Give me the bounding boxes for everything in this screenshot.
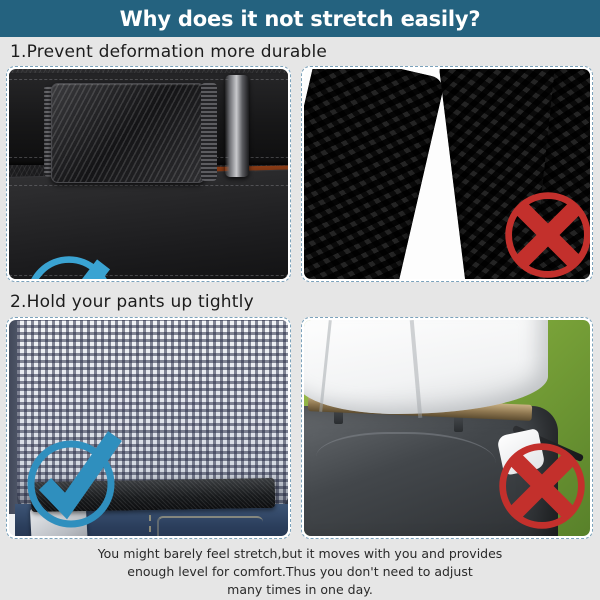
belt-stitch-line xyxy=(9,275,288,276)
panel-top-right xyxy=(301,66,593,282)
header-bar: Why does it not stretch easily? xyxy=(0,0,600,37)
panel-top-right-image xyxy=(304,69,590,279)
belt-buckle-plate xyxy=(51,83,205,183)
caption-line-2: enough level for comfort.Thus you don't … xyxy=(0,563,600,581)
panel-bottom-right xyxy=(301,317,593,539)
caption-line-3: many times in one day. xyxy=(0,581,600,599)
caption-line-1: You might barely feel stretch,but it mov… xyxy=(0,545,600,563)
panel-bottom-right-image xyxy=(304,320,590,536)
panel-bottom-left xyxy=(6,317,291,539)
panel-top-left xyxy=(6,66,291,282)
panel-bottom-left-image xyxy=(9,320,288,536)
white-shirt xyxy=(304,320,548,414)
belt-stitch-line xyxy=(9,185,288,186)
footer-caption: You might barely feel stretch,but it mov… xyxy=(0,545,600,599)
trouser-pocket xyxy=(316,432,496,494)
infographic-root: Why does it not stretch easily? 1.Preven… xyxy=(0,0,600,600)
section-heading-2: 2.Hold your pants up tightly xyxy=(10,292,254,312)
buckle-knurled-edge xyxy=(201,83,217,181)
page-title: Why does it not stretch easily? xyxy=(120,7,481,31)
jeans-back-pocket xyxy=(157,516,263,536)
section-heading-1: 1.Prevent deformation more durable xyxy=(10,42,327,62)
worn-black-belt xyxy=(31,478,275,512)
panel-top-left-image xyxy=(9,69,288,279)
buckle-metal-bar xyxy=(225,75,249,177)
